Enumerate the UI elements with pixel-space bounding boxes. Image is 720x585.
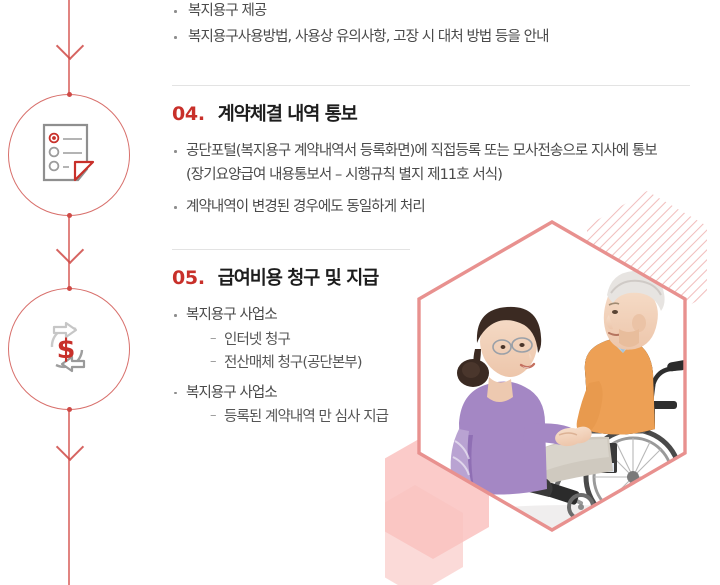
list-item-label: 복지용구 제공 (188, 3, 266, 19)
hero-graphic-svg (385, 185, 720, 585)
list-item: 복지용구사용방법, 사용상 유의사항, 고장 시 대처 방법 등을 안내 (172, 26, 692, 49)
sub-list-item-label: 전산매체 청구(공단본부) (224, 355, 362, 371)
section-number: 04. (172, 105, 205, 124)
payment-claim-node[interactable]: $ (8, 288, 130, 410)
list-item-subtext: (장기요양급여 내용통보서 – 시행규칙 별지 제11호 서식) (186, 164, 692, 187)
section-04-header: 04. 계약체결 내역 통보 (172, 105, 692, 125)
section-title: 계약체결 내역 통보 (218, 106, 357, 125)
chevron-down-icon (56, 32, 84, 60)
chevron-down-icon (56, 236, 84, 264)
list-item-label: 공단포털(복지용구 계약내역서 등록화면)에 직접등록 또는 모사전송으로 지사… (186, 140, 692, 163)
section-number: 05. (172, 269, 205, 288)
timeline-rail: $ (0, 0, 150, 585)
sub-list-item-label: 등록된 계약내역 만 심사 지급 (224, 409, 388, 425)
checklist-document-icon (9, 95, 129, 215)
svg-text:$: $ (57, 334, 76, 365)
contract-notice-node[interactable] (8, 94, 130, 216)
section-divider (172, 249, 410, 250)
page-root: $ 복지용구 제공 복지용구사용방법, 사용상 유의사항, 고장 시 대처 방법… (0, 0, 720, 585)
list-item: 공단포털(복지용구 계약내역서 등록화면)에 직접등록 또는 모사전송으로 지사… (172, 140, 692, 187)
hero-graphic (385, 185, 720, 585)
section-divider (172, 85, 690, 86)
sub-list-item-label: 인터넷 청구 (224, 332, 290, 348)
section-title: 급여비용 청구 및 지급 (218, 270, 379, 289)
money-exchange-icon: $ (9, 289, 129, 409)
chevron-down-icon (56, 433, 84, 461)
carryover-list: 복지용구 제공 복지용구사용방법, 사용상 유의사항, 고장 시 대처 방법 등… (172, 0, 692, 50)
list-item-label: 복지용구사용방법, 사용상 유의사항, 고장 시 대처 방법 등을 안내 (188, 29, 549, 45)
list-item: 복지용구 제공 (172, 0, 692, 23)
